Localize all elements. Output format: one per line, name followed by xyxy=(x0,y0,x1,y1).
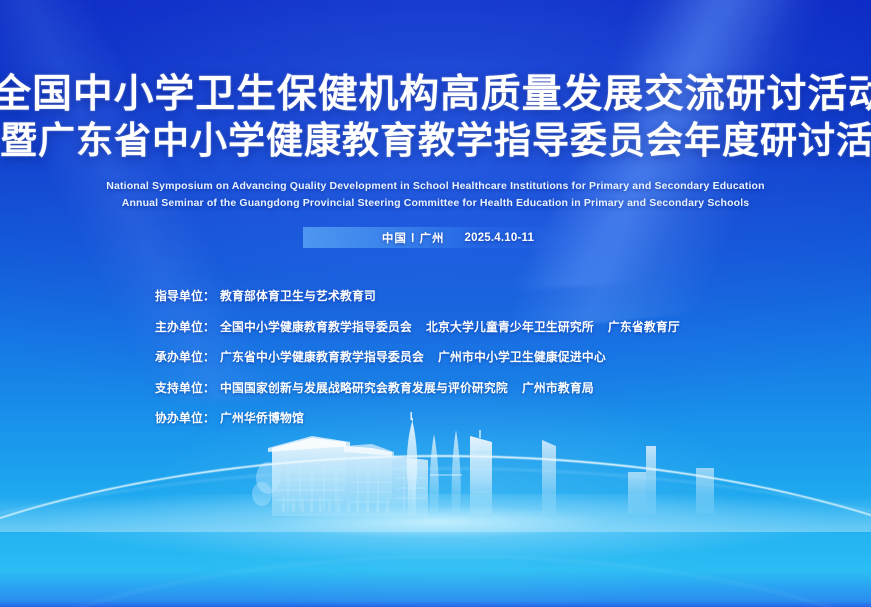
organizer-value: 全国中小学健康教育教学指导委员会 xyxy=(220,318,412,335)
conference-poster: 全国中小学卫生保健机构高质量发展交流研讨活动 暨广东省中小学健康教育教学指导委员… xyxy=(0,0,871,607)
organizer-value: 中国国家创新与发展战略研究会教育发展与评价研究院 xyxy=(220,379,508,396)
title-line-2: 暨广东省中小学健康教育教学指导委员会年度研讨活动 xyxy=(0,121,871,160)
organizer-label: 支持单位： xyxy=(155,379,215,396)
subtitle-english-line-1: National Symposium on Advancing Quality … xyxy=(0,178,871,195)
date-text: 2025.4.10-11 xyxy=(465,232,535,244)
organizer-values: 中国国家创新与发展战略研究会教育发展与评价研究院 广州市教育局 xyxy=(220,379,594,396)
organizer-label: 指导单位： xyxy=(155,287,215,304)
organizer-value: 广东省中小学健康教育教学指导委员会 xyxy=(220,348,424,365)
arc-sweep-tertiary xyxy=(0,556,871,607)
organizer-values: 广东省中小学健康教育教学指导委员会 广州市中小学卫生健康促进中心 xyxy=(220,348,606,365)
organizer-values: 教育部体育卫生与艺术教育司 xyxy=(220,287,376,304)
subtitle-english: National Symposium on Advancing Quality … xyxy=(0,178,871,212)
organizer-row: 支持单位： 中国国家创新与发展战略研究会教育发展与评价研究院 广州市教育局 xyxy=(155,379,680,396)
organizer-value: 北京大学儿童青少年卫生研究所 xyxy=(426,318,594,335)
organizer-values: 全国中小学健康教育教学指导委员会 北京大学儿童青少年卫生研究所 广东省教育厅 xyxy=(220,318,680,335)
organizer-row: 主办单位： 全国中小学健康教育教学指导委员会 北京大学儿童青少年卫生研究所 广东… xyxy=(155,318,680,335)
date-location-bar-content: 中国 l 广州 2025.4.10-11 xyxy=(303,227,573,248)
subtitle-english-line-2: Annual Seminar of the Guangdong Provinci… xyxy=(0,195,871,212)
skyline-illustration xyxy=(0,412,871,532)
poster-title-block: 全国中小学卫生保健机构高质量发展交流研讨活动 暨广东省中小学健康教育教学指导委员… xyxy=(0,74,871,161)
organizer-value: 广东省教育厅 xyxy=(608,318,680,335)
location-text: 中国 l 广州 xyxy=(382,230,445,246)
organizer-value: 广州市中小学卫生健康促进中心 xyxy=(438,348,606,365)
title-line-1: 全国中小学卫生保健机构高质量发展交流研讨活动 xyxy=(0,74,871,115)
organizer-row: 承办单位： 广东省中小学健康教育教学指导委员会 广州市中小学卫生健康促进中心 xyxy=(155,348,680,365)
organizer-label: 承办单位： xyxy=(155,348,215,365)
organizer-value: 教育部体育卫生与艺术教育司 xyxy=(220,287,376,304)
organizer-label: 主办单位： xyxy=(155,318,215,335)
date-location-bar: 中国 l 广州 2025.4.10-11 xyxy=(303,227,573,248)
organizer-value: 广州市教育局 xyxy=(522,379,594,396)
organizer-row: 指导单位： 教育部体育卫生与艺术教育司 xyxy=(155,287,680,304)
